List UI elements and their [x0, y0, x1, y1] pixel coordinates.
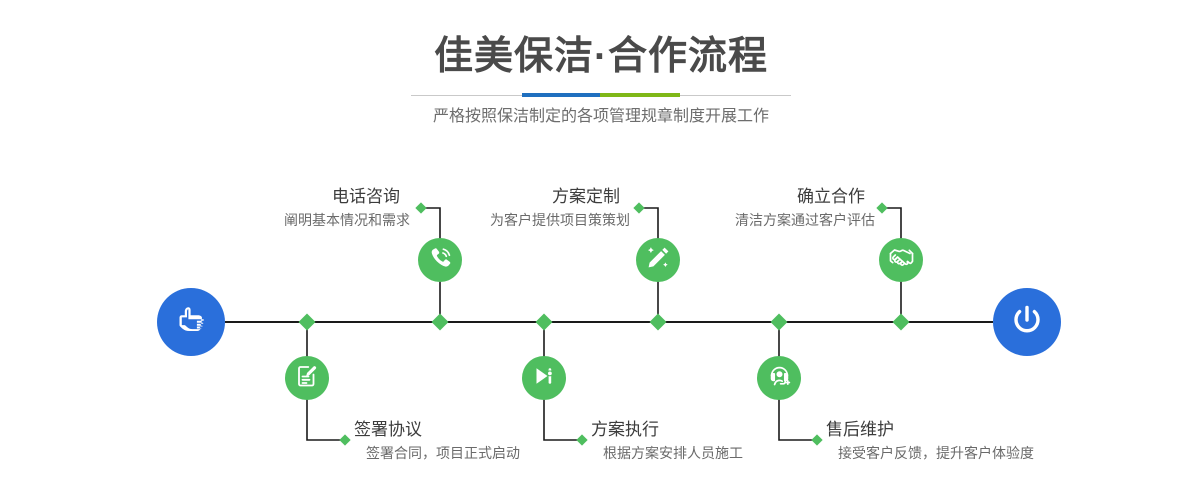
pointing-hand-icon	[173, 302, 209, 343]
step-label-6: 售后维护 接受客户反馈，提升客户体验度	[824, 418, 1184, 464]
step-desc-6: 接受客户反馈，提升客户体验度	[824, 442, 1184, 464]
flow-start-node[interactable]	[157, 288, 225, 356]
step-title-6: 售后维护	[824, 418, 1184, 442]
divider-right-line	[680, 95, 791, 96]
step-title-5: 确立合作	[585, 185, 875, 209]
divider-left-line	[411, 95, 522, 96]
flow-end-node[interactable]	[993, 288, 1061, 356]
step-label-5: 确立合作 清洁方案通过客户评估	[585, 185, 875, 231]
page-title: 佳美保洁·合作流程	[0, 34, 1202, 80]
step-icon-4[interactable]	[522, 356, 566, 400]
play-execute-icon	[532, 364, 556, 393]
step-icon-3[interactable]	[636, 238, 680, 282]
document-pen-icon	[295, 364, 319, 393]
step-icon-5[interactable]	[879, 238, 923, 282]
page-header: 佳美保洁·合作流程 严格按照保洁制定的各项管理规章制度开展工作	[0, 0, 1202, 140]
page-subtitle: 严格按照保洁制定的各项管理规章制度开展工作	[0, 105, 1202, 129]
step-icon-1[interactable]	[418, 238, 462, 282]
pencil-ruler-icon	[645, 245, 671, 276]
phone-call-icon	[427, 245, 453, 276]
step-icon-6[interactable]	[757, 356, 801, 400]
headset-support-icon	[767, 363, 792, 393]
divider-green-segment	[600, 93, 680, 97]
power-icon	[1008, 301, 1046, 344]
step-icon-2[interactable]	[285, 356, 329, 400]
process-flow-diagram: 电话咨询 阐明基本情况和需求 签署协议 签署合同，项目正式启动 方案定制	[0, 150, 1202, 502]
handshake-icon	[888, 244, 915, 276]
step-desc-5: 清洁方案通过客户评估	[585, 209, 875, 231]
title-divider	[411, 93, 791, 97]
divider-blue-segment	[522, 93, 600, 97]
